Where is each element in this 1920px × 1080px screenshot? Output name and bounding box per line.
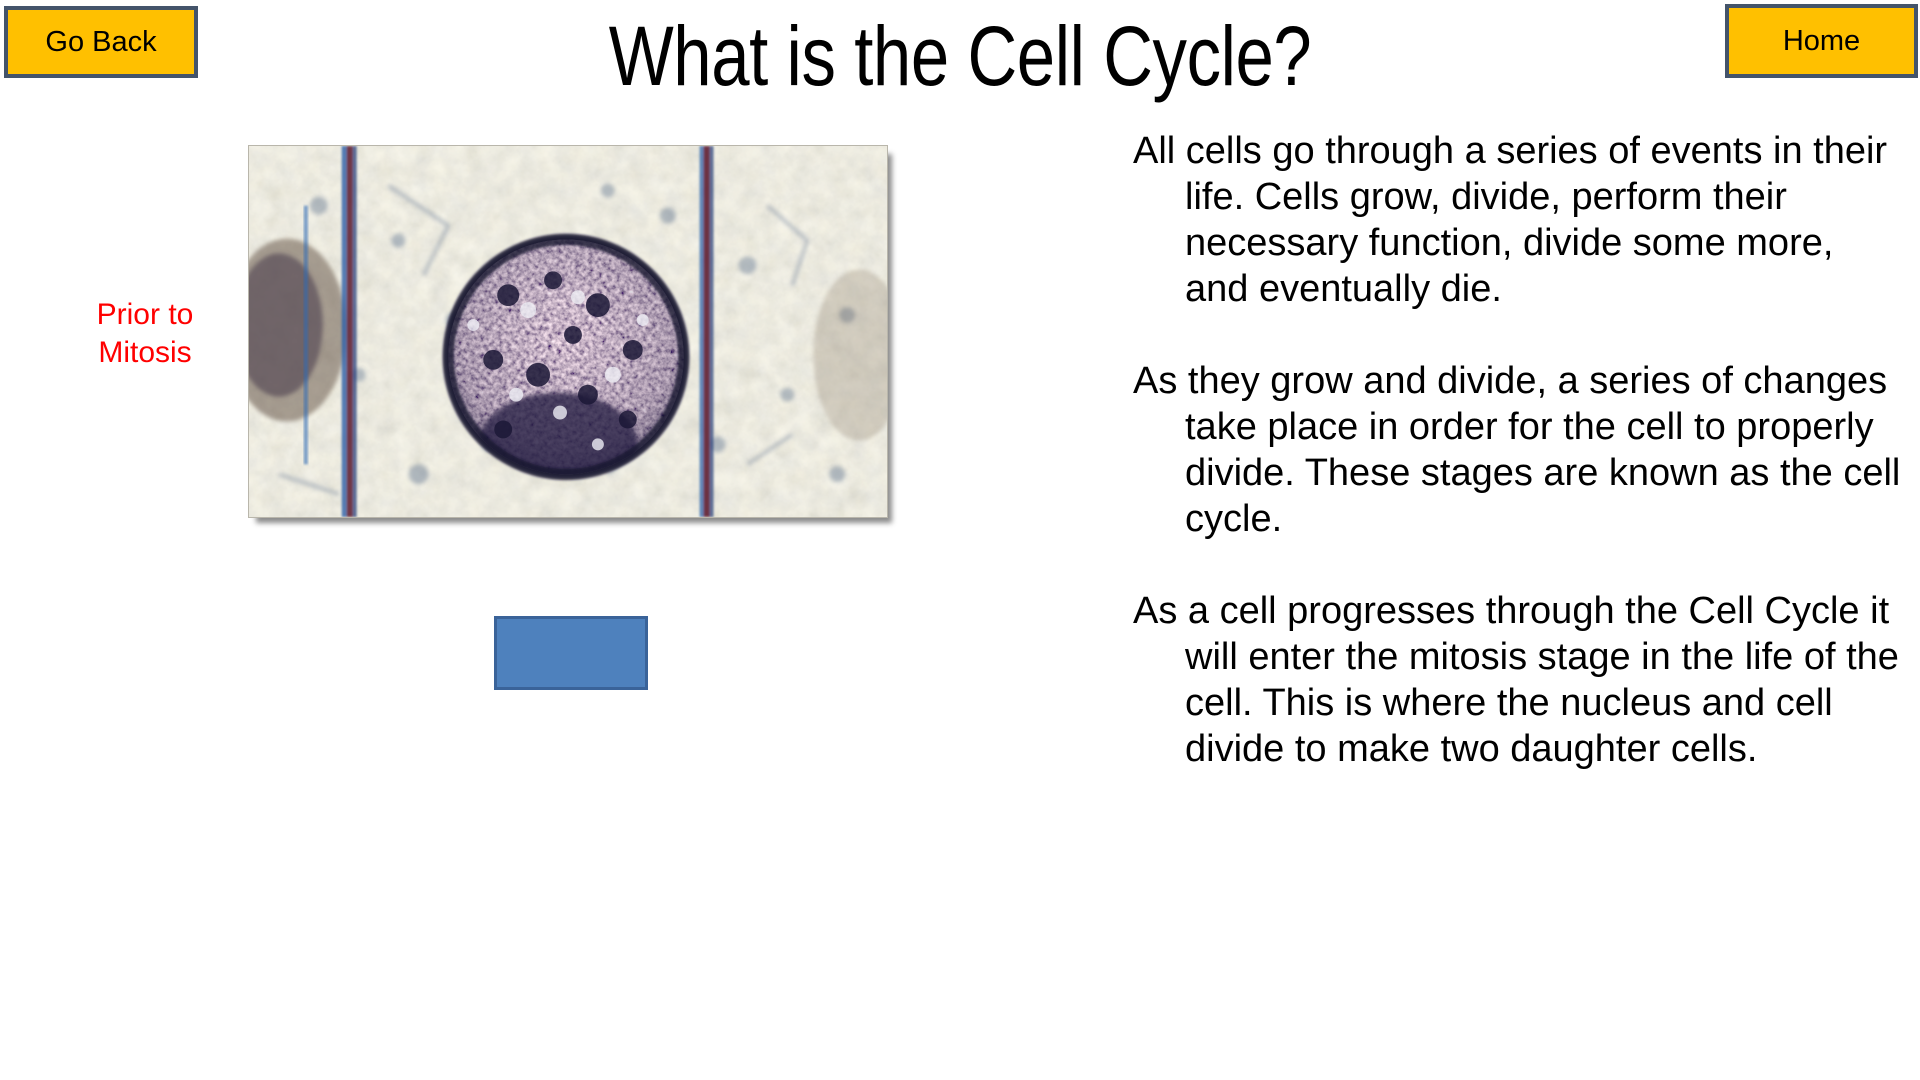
play-video-button[interactable] — [494, 616, 648, 690]
figure-caption-line-1: Prior to — [60, 296, 230, 334]
figure-caption: Prior to Mitosis — [60, 296, 230, 373]
home-button[interactable]: Home — [1725, 4, 1918, 78]
home-button-label: Home — [1783, 27, 1860, 56]
body-text-block: All cells go through a series of events … — [1133, 128, 1901, 772]
micrograph-graphic — [249, 146, 887, 517]
go-back-button[interactable]: Go Back — [4, 6, 198, 78]
body-paragraph-3: As a cell progresses through the Cell Cy… — [1133, 588, 1901, 772]
go-back-button-label: Go Back — [45, 28, 156, 57]
figure-caption-line-2: Mitosis — [60, 334, 230, 372]
body-paragraph-2: As they grow and divide, a series of cha… — [1133, 358, 1901, 542]
body-paragraph-1: All cells go through a series of events … — [1133, 128, 1901, 312]
page-title: What is the Cell Cycle? — [173, 8, 1747, 105]
micrograph-image — [248, 145, 888, 518]
